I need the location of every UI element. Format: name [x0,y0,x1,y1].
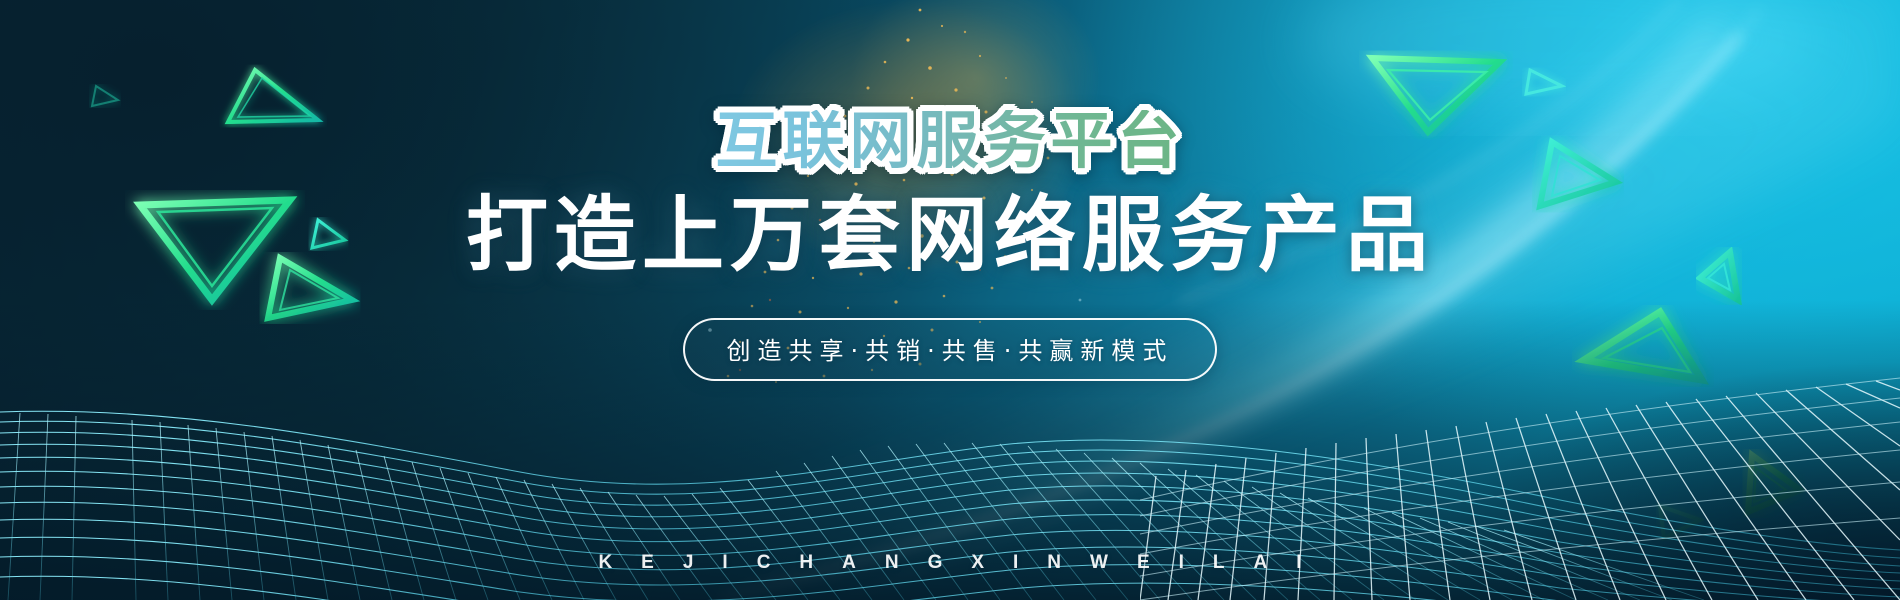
banner-content: 互联网服务平台 打造上万套网络服务产品 创造共享·共销·共售·共赢新模式 [0,0,1900,600]
page-subtitle: 打造上万套网络服务产品 [466,192,1434,278]
hero-banner: 互联网服务平台 打造上万套网络服务产品 创造共享·共销·共售·共赢新模式 KEJ… [0,0,1900,600]
page-title: 互联网服务平台 [715,110,1184,172]
tagline-pill: 创造共享·共销·共售·共赢新模式 [683,318,1218,381]
